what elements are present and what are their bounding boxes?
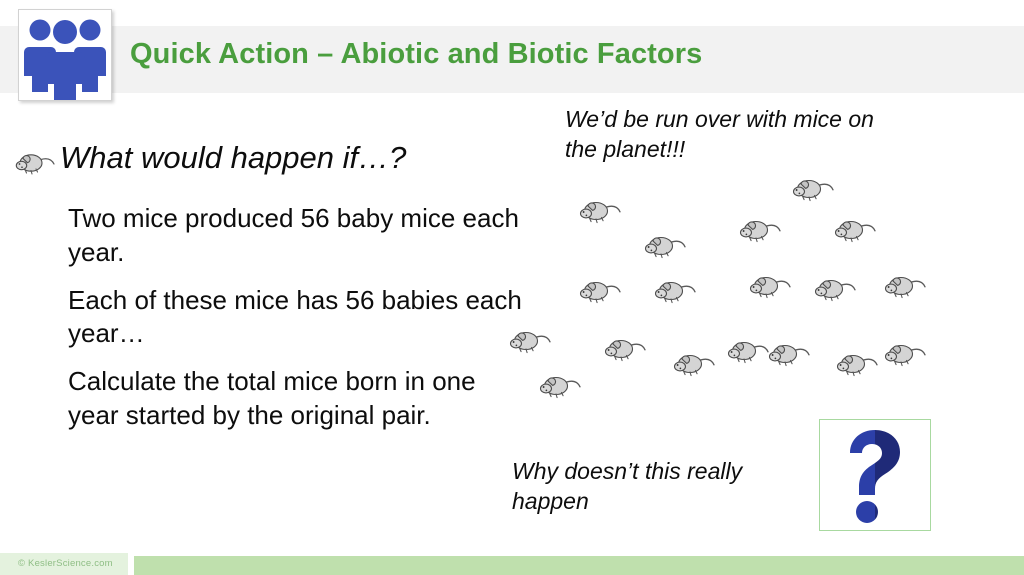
- mouse-icon: [14, 148, 58, 178]
- body-paragraph-list: Two mice produced 56 baby mice each year…: [12, 202, 522, 433]
- mouse-icon: [767, 338, 813, 370]
- mouse-icon: [813, 273, 859, 305]
- mouse-icon: [835, 348, 881, 380]
- lead-question-row: What would happen if…?: [12, 140, 522, 192]
- logo-three-people: [18, 9, 112, 101]
- mouse-icon: [738, 214, 784, 246]
- mouse-icon: [603, 333, 649, 365]
- body-paragraph-2: Each of these mice has 56 babies each ye…: [12, 284, 522, 352]
- three-people-icon: [19, 10, 111, 100]
- caption-bottom-text: Why doesn’t this really happen: [512, 456, 822, 517]
- mouse-icon: [883, 270, 929, 302]
- left-content-column: What would happen if…? Two mice produced…: [12, 140, 522, 447]
- mouse-icon: [653, 275, 699, 307]
- mouse-icon: [508, 325, 554, 357]
- mice-illustration-field: [490, 170, 960, 420]
- mouse-icon: [883, 338, 929, 370]
- footer-right-band: [134, 556, 1024, 575]
- lead-question-text: What would happen if…?: [60, 140, 406, 176]
- mouse-icon: [748, 270, 794, 302]
- mouse-icon: [833, 214, 879, 246]
- mouse-icon: [578, 275, 624, 307]
- body-paragraph-3: Calculate the total mice born in one yea…: [12, 365, 522, 433]
- mouse-icon: [791, 173, 837, 205]
- body-paragraph-1: Two mice produced 56 baby mice each year…: [12, 202, 522, 270]
- caption-top-text: We’d be run over with mice on the planet…: [565, 104, 895, 165]
- footer-credit-text: © KeslerScience.com: [18, 558, 113, 569]
- mouse-icon: [726, 335, 772, 367]
- mouse-icon: [643, 230, 689, 262]
- question-mark-icon: [820, 420, 930, 530]
- mouse-icon: [578, 195, 624, 227]
- page-title: Quick Action – Abiotic and Biotic Factor…: [130, 38, 702, 71]
- mouse-icon: [672, 348, 718, 380]
- question-mark-box: [819, 419, 931, 531]
- mouse-icon: [538, 370, 584, 402]
